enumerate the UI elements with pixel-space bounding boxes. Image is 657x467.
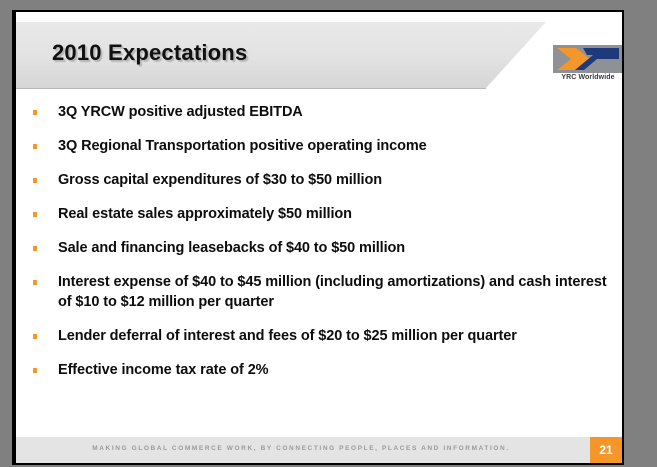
bullet-marker-icon	[33, 368, 37, 373]
yrc-logo-mark	[553, 45, 622, 73]
bullet-marker-icon	[33, 110, 37, 115]
list-item: Gross capital expenditures of $30 to $50…	[16, 170, 622, 190]
header-divider	[16, 88, 486, 89]
yrc-worldwide-logo: YRC Worldwide	[553, 45, 622, 87]
slide-footer: MAKING GLOBAL COMMERCE WORK, BY CONNECTI…	[16, 437, 622, 463]
list-item-text: Gross capital expenditures of $30 to $50…	[58, 172, 382, 188]
slide-viewport: 2010 Expectations YRC Worldwide 3Q YRCW …	[0, 0, 657, 467]
list-item-text: Sale and financing leasebacks of $40 to …	[58, 240, 405, 256]
list-item: Effective income tax rate of 2%	[16, 360, 622, 380]
bullet-marker-icon	[33, 280, 37, 285]
list-item-text: 3Q YRCW positive adjusted EBITDA	[58, 104, 303, 120]
logo-wordmark: YRC Worldwide	[553, 74, 622, 81]
list-item: 3Q YRCW positive adjusted EBITDA	[16, 102, 622, 122]
list-item: 3Q Regional Transportation positive oper…	[16, 136, 622, 156]
bullet-marker-icon	[33, 212, 37, 217]
presentation-slide: 2010 Expectations YRC Worldwide 3Q YRCW …	[16, 12, 622, 463]
list-item: Interest expense of $40 to $45 million (…	[16, 272, 622, 312]
list-item: Lender deferral of interest and fees of …	[16, 326, 622, 346]
list-item: Real estate sales approximately $50 mill…	[16, 204, 622, 224]
footer-tagline: MAKING GLOBAL COMMERCE WORK, BY CONNECTI…	[16, 445, 586, 452]
page-title: 2010 Expectations	[52, 40, 247, 66]
bullet-marker-icon	[33, 246, 37, 251]
list-item-text: Real estate sales approximately $50 mill…	[58, 206, 352, 222]
list-item: Sale and financing leasebacks of $40 to …	[16, 238, 622, 258]
bullet-list: 3Q YRCW positive adjusted EBITDA 3Q Regi…	[16, 102, 622, 394]
list-item-text: Interest expense of $40 to $45 million (…	[58, 274, 607, 310]
page-number-badge: 21	[590, 437, 622, 463]
list-item-text: 3Q Regional Transportation positive oper…	[58, 138, 427, 154]
bullet-marker-icon	[33, 334, 37, 339]
list-item-text: Effective income tax rate of 2%	[58, 362, 268, 378]
bullet-marker-icon	[33, 144, 37, 149]
bullet-marker-icon	[33, 178, 37, 183]
list-item-text: Lender deferral of interest and fees of …	[58, 328, 517, 344]
